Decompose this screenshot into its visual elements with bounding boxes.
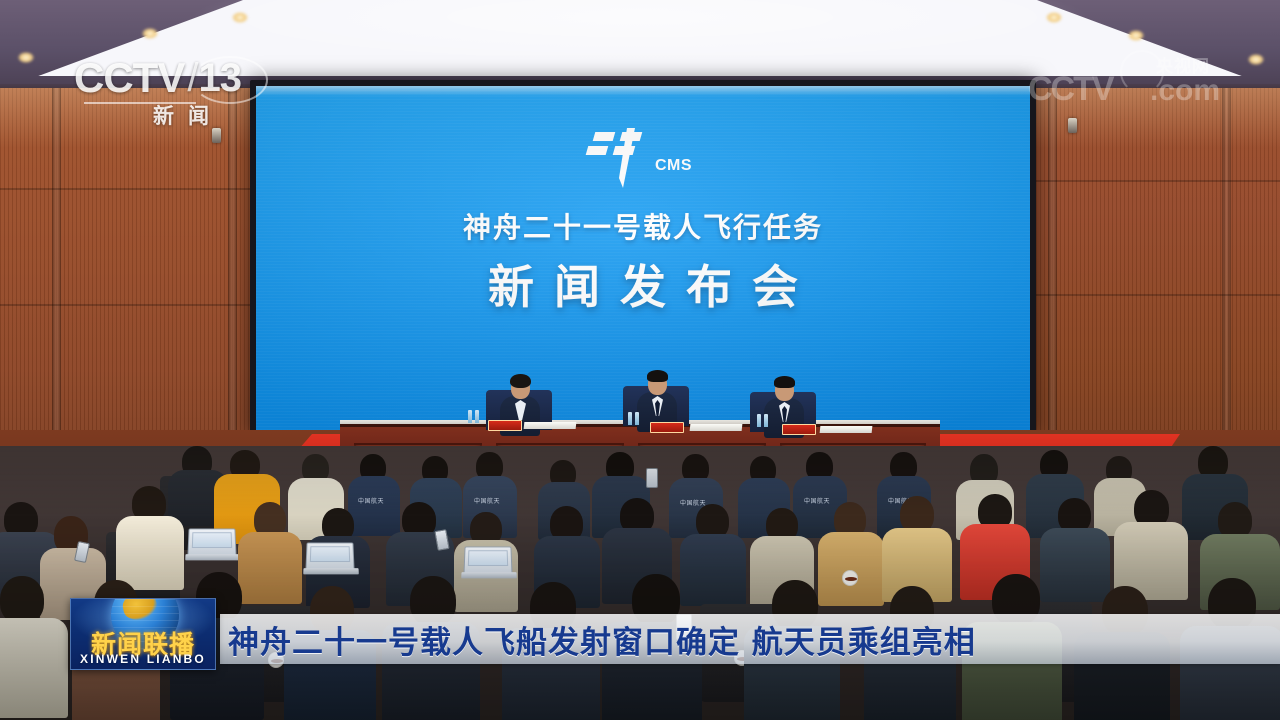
jacket-logo-text: 中国航天 [804, 496, 830, 505]
wall-seam-horizontal [1024, 180, 1280, 182]
water-bottle [635, 412, 639, 425]
cctv-13-bug: CCTV / 13 新闻 [74, 54, 274, 134]
cms-logo: CMS [583, 126, 703, 192]
downlight [1128, 30, 1144, 41]
wall-sensor [1068, 118, 1077, 133]
wall-seam-horizontal [1024, 294, 1280, 296]
watermark-chinese-text: 央视网 [1156, 52, 1210, 77]
person-body [1040, 528, 1110, 602]
screen-title-line-2: 新闻发布会 [256, 251, 1030, 317]
documents [690, 424, 743, 431]
wall-seam [1222, 88, 1231, 488]
jacket-logo-text: 中国航天 [474, 496, 500, 505]
documents [524, 422, 577, 429]
laptop [305, 542, 354, 572]
laptop-screen [310, 546, 350, 562]
person-body [818, 532, 884, 606]
laptop-base [303, 568, 359, 574]
news-headline: 神舟二十一号载人飞船发射窗口确定 航天员乘组亮相 [228, 617, 976, 661]
watermark-cctv-text: CCTV [1028, 70, 1113, 109]
water-bottle [628, 412, 632, 425]
program-logo-xinwen-lianbo: 新闻联播 XINWEN LIANBO [70, 598, 216, 670]
laptop-screen [468, 550, 508, 566]
downlight [18, 52, 34, 63]
downlight [142, 28, 158, 39]
wall-seam [1048, 88, 1057, 488]
screen-title-line-1: 神舟二十一号载人飞行任务 [256, 206, 1030, 246]
led-screen: CMS 神舟二十一号载人飞行任务 新闻发布会 [256, 86, 1030, 430]
person-body [680, 534, 746, 606]
cctv-com-watermark: CCTV .com 央视网 [1028, 50, 1236, 106]
official-nameplate [488, 420, 522, 431]
program-name-pinyin: XINWEN LIANBO [71, 652, 215, 666]
cctv-letters: CCTV [74, 54, 184, 102]
water-bottle [764, 414, 768, 427]
wall-seam-horizontal [0, 304, 262, 306]
official-hair [647, 370, 668, 382]
water-bottle [757, 414, 761, 427]
laptop [187, 528, 236, 558]
lower-third: 新闻联播 XINWEN LIANBO 神舟二十一号载人飞船发射窗口确定 航天员乘… [0, 598, 1280, 678]
wall-seam-horizontal [0, 188, 262, 190]
laptop-base [185, 554, 241, 560]
official-nameplate [782, 424, 816, 435]
cctv-underline [84, 102, 196, 104]
watermark-com-text: .com [1150, 74, 1220, 108]
wall-right [1024, 88, 1280, 488]
audience-area: 中国航天 中国航天 中国航天 [0, 446, 1280, 720]
official-hair [510, 374, 531, 388]
jacket-logo-text: 中国航天 [680, 498, 706, 507]
laptop-base [461, 572, 517, 578]
cctv-channel-name: 新闻 [74, 100, 274, 130]
wall-seam [228, 88, 237, 488]
cctv-oval-outline [192, 56, 268, 104]
smartphone [646, 468, 658, 488]
laptop [463, 546, 512, 576]
svg-text:CMS: CMS [655, 157, 692, 174]
wall-seam [52, 88, 61, 488]
laptop-screen [192, 532, 232, 548]
person-body [238, 532, 302, 604]
official-hair [774, 376, 795, 388]
water-bottle [475, 410, 479, 423]
screen-top-highlight [256, 86, 1030, 96]
downlight [1248, 54, 1264, 65]
documents [820, 426, 873, 433]
downlight [232, 12, 248, 23]
jacket-logo-text: 中国航天 [358, 496, 384, 505]
wall-left [0, 88, 262, 488]
chair-logo [842, 570, 858, 586]
water-bottle [468, 410, 472, 423]
person-body [348, 476, 400, 536]
broadcast-frame: CMS 神舟二十一号载人飞行任务 新闻发布会 [0, 0, 1280, 720]
official-nameplate [650, 422, 684, 433]
downlight [1046, 12, 1062, 23]
person-body [116, 516, 184, 590]
